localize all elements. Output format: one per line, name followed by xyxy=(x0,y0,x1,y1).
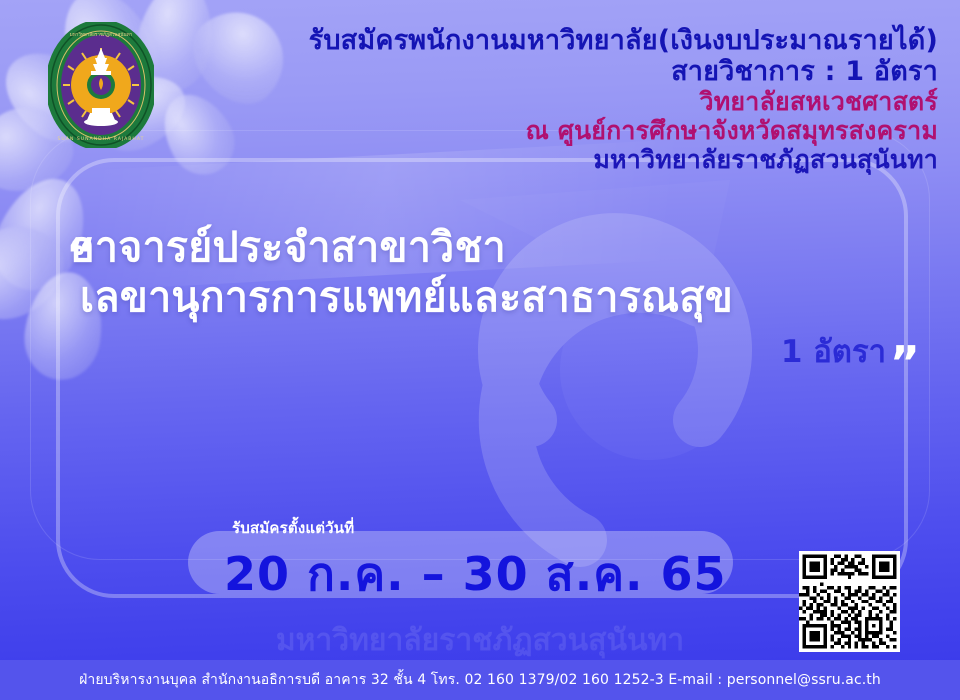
ssru-seal-logo: มหาวิทยาลัยราชภัฏสวนสุนันทา SUAN SUNANDH… xyxy=(48,22,154,148)
quote-open-mark: “ xyxy=(66,228,96,282)
position-quantity: 1 อัตรา xyxy=(66,326,926,376)
header-line-2: สายวิชาการ : 1 อัตรา xyxy=(309,57,938,86)
recruitment-poster: มหาวิทยาลัยราชภัฏสวนสุนันทา SUAN SUNANDH… xyxy=(0,0,960,700)
svg-text:มหาวิทยาลัยราชภัฏสวนสุนันทา: มหาวิทยาลัยราชภัฏสวนสุนันทา xyxy=(70,31,133,38)
header-line-4: ณ ศูนย์การศึกษาจังหวัดสมุทรสงคราม xyxy=(309,117,938,144)
footer-contact-text: ฝ่ายบริหารงานบุคล สำนักงานอธิการบดี อาคา… xyxy=(79,669,881,691)
position-title-block: “ อาจารย์ประจำสาขาวิชา เลขานุการการแพทย์… xyxy=(66,222,926,376)
application-date-range: 20 ก.ค. – 30 ส.ค. 65 xyxy=(224,538,726,611)
header-line-3: วิทยาลัยสหเวชศาสตร์ xyxy=(309,88,938,115)
svg-text:SUAN SUNANDHA RAJABHAT: SUAN SUNANDHA RAJABHAT xyxy=(58,136,145,142)
header-line-1: รับสมัครพนักงานมหาวิทยาลัย(เงินงบประมาณร… xyxy=(309,26,938,55)
quote-close-mark: ” xyxy=(890,336,920,390)
application-qr-code[interactable] xyxy=(799,551,900,652)
application-date-label: รับสมัครตั้งแต่วันที่ xyxy=(232,516,354,540)
header-text-block: รับสมัครพนักงานมหาวิทยาลัย(เงินงบประมาณร… xyxy=(309,26,938,175)
header-line-5: มหาวิทยาลัยราชภัฏสวนสุนันทา xyxy=(309,146,938,173)
position-title-line-1: อาจารย์ประจำสาขาวิชา xyxy=(66,222,926,272)
position-title-line-2: เลขานุการการแพทย์และสาธารณสุข xyxy=(66,272,926,322)
footer-bar: ฝ่ายบริหารงานบุคล สำนักงานอธิการบดี อาคา… xyxy=(0,660,960,700)
